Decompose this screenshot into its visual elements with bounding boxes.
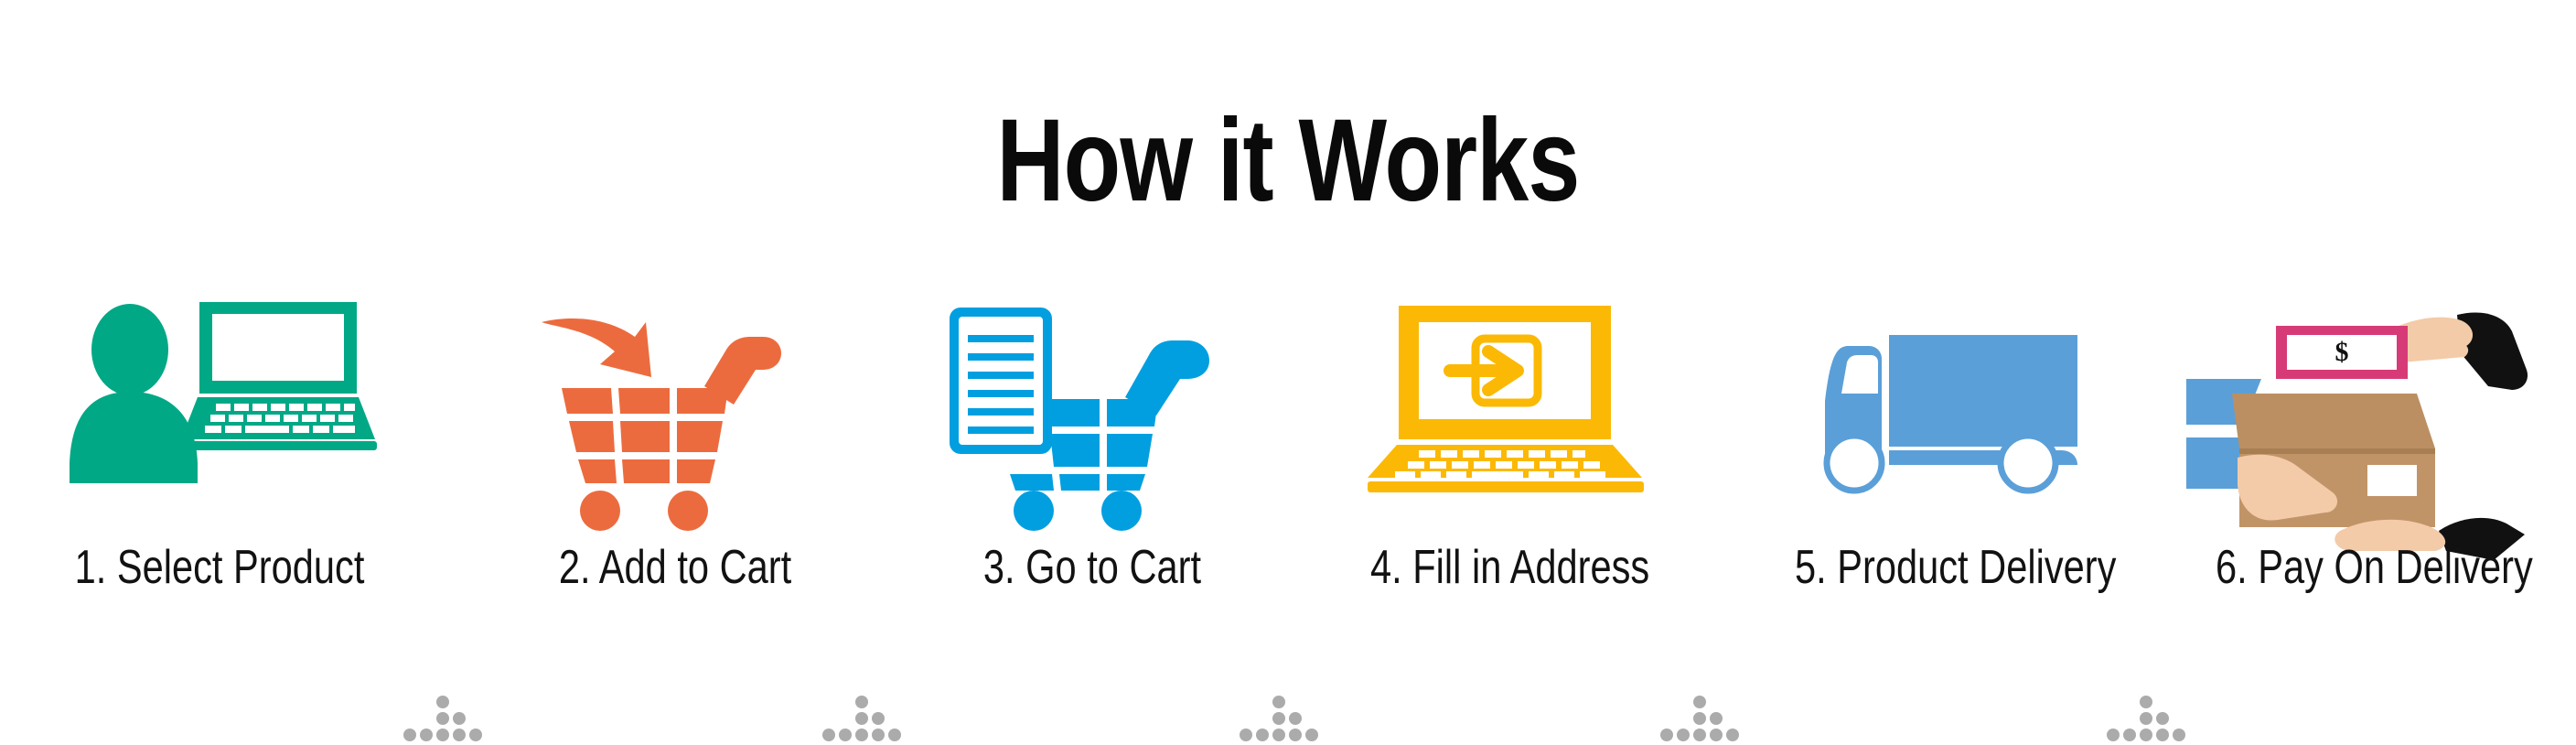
money-bill: $ (2276, 326, 2408, 379)
bill-dollar-symbol: $ (2335, 337, 2349, 367)
step-5-caption: 5. Product Delivery (1795, 542, 2102, 594)
delivery-truck-icon (1756, 302, 2141, 540)
arrow-separator-3 (1237, 691, 1328, 745)
step-2-add-to-cart[interactable]: 2. Add to Cart (501, 302, 849, 686)
step-3-caption: 3. Go to Cart (953, 542, 1231, 594)
person-at-laptop-icon (37, 302, 402, 540)
box-label (2367, 465, 2417, 496)
step-1-caption: 1. Select Product (73, 542, 366, 594)
step-3-go-to-cart[interactable]: 3. Go to Cart (918, 302, 1266, 686)
arrow-separator-2 (820, 691, 911, 745)
box-top (2232, 394, 2435, 448)
step-6-caption: 6. Pay On Delivery (2216, 542, 2523, 594)
laptop-login-icon (1336, 302, 1683, 540)
cash-on-delivery-icon: $ (2177, 302, 2561, 540)
page-title: How it Works (258, 103, 2319, 220)
step-1-select-product[interactable]: 1. Select Product (37, 302, 402, 686)
document-and-cart-icon (918, 302, 1266, 540)
infographic-canvas: How it Works (0, 0, 2576, 745)
step-5-product-delivery[interactable]: 5. Product Delivery (1756, 302, 2141, 686)
cart-with-arrow-icon (501, 302, 849, 540)
arrow-separator-5 (2104, 691, 2195, 745)
step-2-caption: 2. Add to Cart (536, 542, 814, 594)
steps-row: 1. Select Product (0, 302, 2576, 686)
step-4-caption: 4. Fill in Address (1370, 542, 1648, 594)
step-6-pay-on-delivery[interactable]: $ (2177, 302, 2561, 686)
arrow-separator-1 (401, 691, 492, 745)
step-4-fill-in-address[interactable]: 4. Fill in Address (1336, 302, 1683, 686)
arrow-separator-4 (1658, 691, 1749, 745)
